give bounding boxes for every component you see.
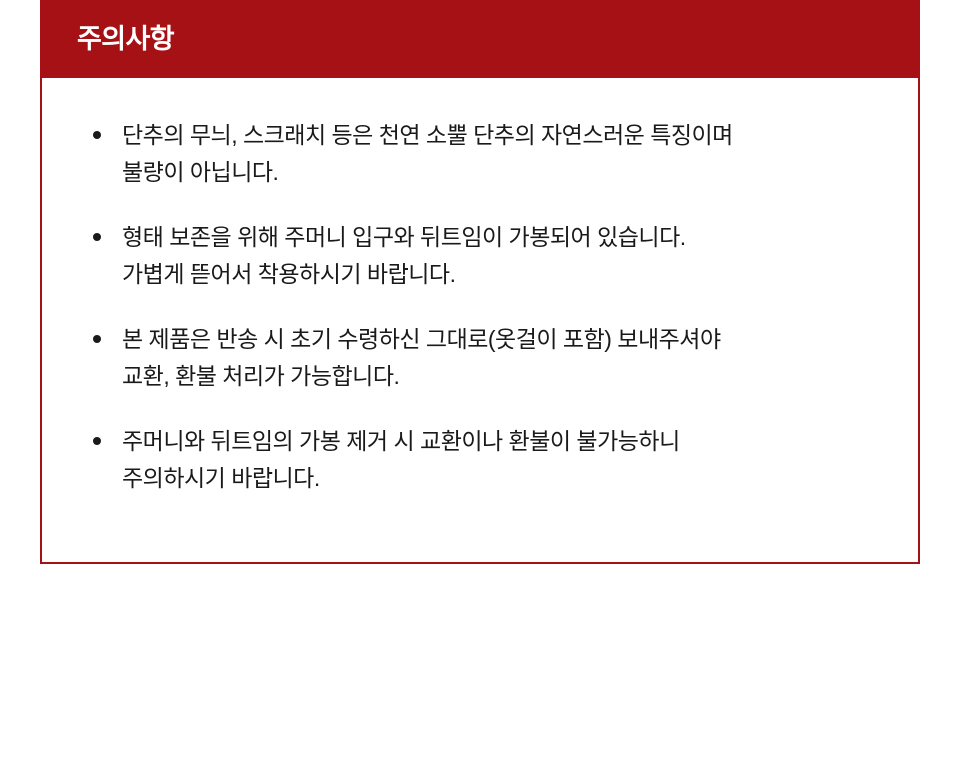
- notice-line: 주의하시기 바랍니다.: [122, 460, 890, 497]
- notice-line: 교환, 환불 처리가 가능합니다.: [122, 358, 890, 395]
- notice-list-item: 단추의 무늬, 스크래치 등은 천연 소뿔 단추의 자연스러운 특징이며 불량이…: [90, 117, 890, 191]
- notice-page: 주의사항 단추의 무늬, 스크래치 등은 천연 소뿔 단추의 자연스러운 특징이…: [0, 0, 960, 781]
- notice-body-box: 단추의 무늬, 스크래치 등은 천연 소뿔 단추의 자연스러운 특징이며 불량이…: [40, 78, 920, 564]
- notice-line: 본 제품은 반송 시 초기 수령하신 그대로(옷걸이 포함) 보내주셔야: [122, 321, 890, 358]
- notice-panel: 주의사항 단추의 무늬, 스크래치 등은 천연 소뿔 단추의 자연스러운 특징이…: [40, 0, 920, 564]
- notice-line: 가볍게 뜯어서 착용하시기 바랍니다.: [122, 256, 890, 293]
- notice-list: 단추의 무늬, 스크래치 등은 천연 소뿔 단추의 자연스러운 특징이며 불량이…: [90, 117, 890, 497]
- notice-list-item: 형태 보존을 위해 주머니 입구와 뒤트임이 가봉되어 있습니다. 가볍게 뜯어…: [90, 219, 890, 293]
- bullet-icon: [93, 233, 101, 241]
- notice-title: 주의사항: [77, 26, 174, 53]
- bullet-icon: [93, 437, 101, 445]
- notice-line: 단추의 무늬, 스크래치 등은 천연 소뿔 단추의 자연스러운 특징이며: [122, 117, 890, 154]
- notice-line: 주머니와 뒤트임의 가봉 제거 시 교환이나 환불이 불가능하니: [122, 423, 890, 460]
- notice-list-item: 본 제품은 반송 시 초기 수령하신 그대로(옷걸이 포함) 보내주셔야 교환,…: [90, 321, 890, 395]
- notice-line: 불량이 아닙니다.: [122, 154, 890, 191]
- notice-header-banner: 주의사항: [40, 0, 920, 78]
- bullet-icon: [93, 335, 101, 343]
- notice-list-item: 주머니와 뒤트임의 가봉 제거 시 교환이나 환불이 불가능하니 주의하시기 바…: [90, 423, 890, 497]
- bullet-icon: [93, 131, 101, 139]
- notice-line: 형태 보존을 위해 주머니 입구와 뒤트임이 가봉되어 있습니다.: [122, 219, 890, 256]
